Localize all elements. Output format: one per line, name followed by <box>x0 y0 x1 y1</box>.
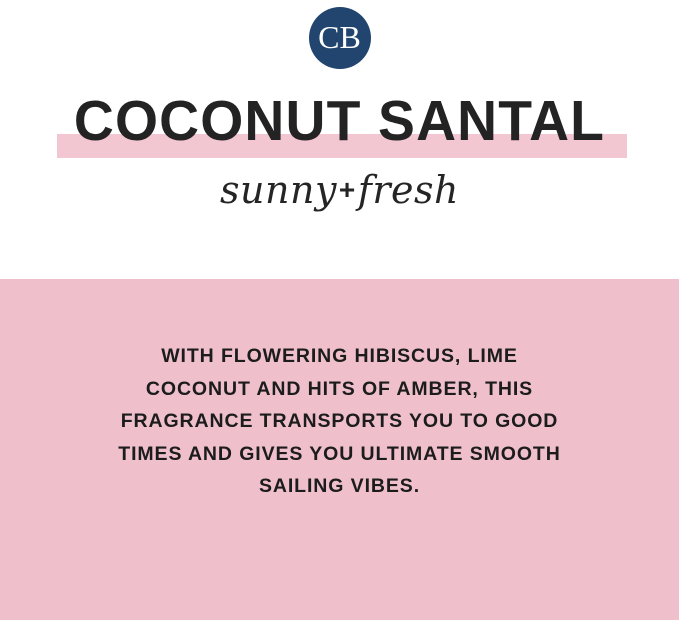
description-text: WITH FLOWERING HIBISCUS, LIME COCONUT AN… <box>0 340 679 503</box>
tagline-first-word: sunny <box>220 168 337 212</box>
description-line: FRAGRANCE TRANSPORTS YOU TO GOOD <box>0 405 679 438</box>
logo-monogram-text: CB <box>318 21 361 53</box>
page-title: COCONUT SANTAL <box>10 94 669 148</box>
tagline-plus-symbol: + <box>337 174 358 205</box>
description-line: TIMES AND GIVES YOU ULTIMATE SMOOTH <box>0 438 679 471</box>
description-line: SAILING VIBES. <box>0 470 679 503</box>
tagline-last-word: fresh <box>358 168 459 212</box>
brand-logo: CB <box>0 7 679 69</box>
tagline: sunny+fresh <box>0 167 679 217</box>
description-line: WITH FLOWERING HIBISCUS, LIME <box>0 340 679 373</box>
description-line: COCONUT AND HITS OF AMBER, THIS <box>0 373 679 406</box>
cb-monogram-icon: CB <box>309 7 371 69</box>
description-panel: WITH FLOWERING HIBISCUS, LIME COCONUT AN… <box>0 279 679 620</box>
title-block: COCONUT SANTAL <box>0 94 679 160</box>
product-graphic: CB COCONUT SANTAL sunny+fresh WITH FLOWE… <box>0 0 679 620</box>
